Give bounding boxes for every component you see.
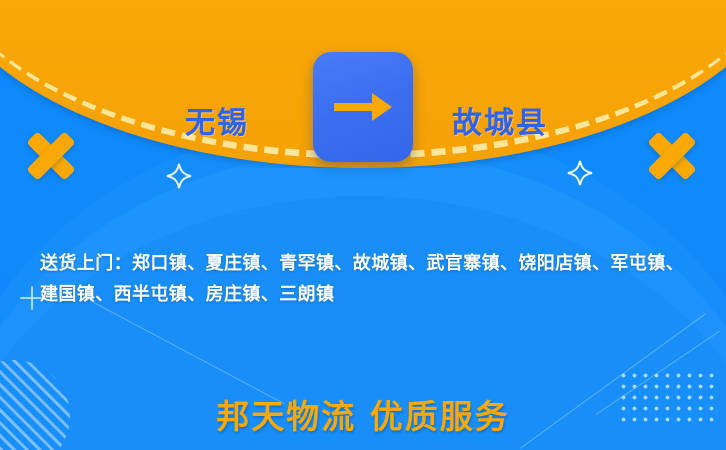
cross-left-icon [24,133,78,179]
destination-city-label: 故城县 [452,98,548,142]
cross-right-icon [645,133,699,179]
direction-arrow-tile [313,52,413,162]
origin-city-label: 无锡 [185,98,249,142]
delivery-routes-text: 送货上门：郑口镇、夏庄镇、青罕镇、故城镇、武官寨镇、饶阳店镇、军屯镇、建国镇、西… [40,248,700,310]
logistics-route-banner: 无锡 故城县 送货上门：郑口镇、夏庄镇、青罕镇、故城镇、武官寨镇、饶阳店镇、军屯… [0,0,726,450]
sparkle-right-icon [567,160,593,186]
company-slogan: 邦天物流 优质服务 [0,390,726,438]
arrow-right-icon [332,87,394,127]
sparkle-left-icon [166,163,192,189]
